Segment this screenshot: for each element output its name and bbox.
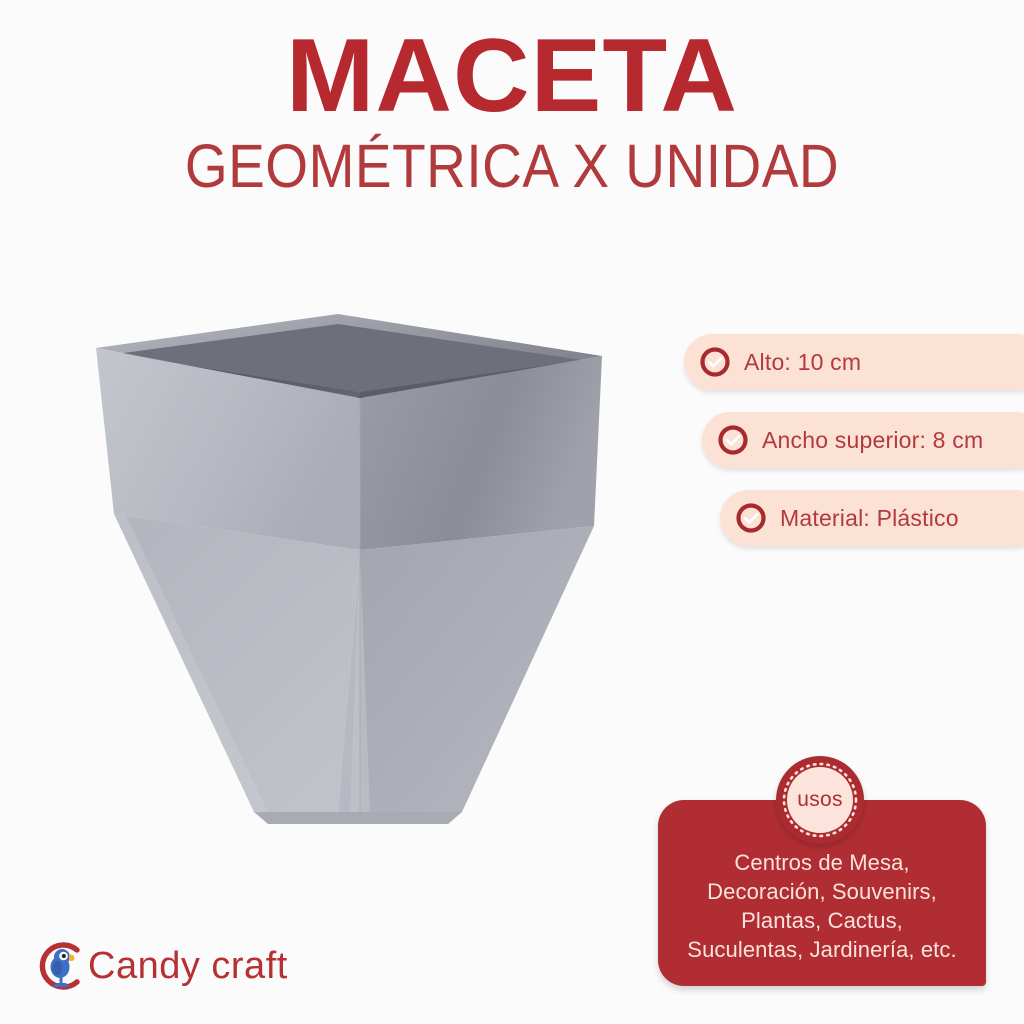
page-title: MACETA	[0, 24, 1024, 128]
usos-line: Decoración, Souvenirs,	[658, 877, 986, 906]
page-subtitle: GEOMÉTRICA X UNIDAD	[0, 135, 1024, 200]
check-circle-icon	[700, 347, 730, 377]
check-circle-icon	[718, 425, 748, 455]
feature-badge-list: Alto: 10 cm Ancho superior: 8 cm Materia…	[0, 334, 1024, 564]
feature-badge-material[interactable]: Material: Plástico	[720, 490, 1024, 546]
parrot-in-c-icon	[30, 935, 92, 997]
feature-badge-alto[interactable]: Alto: 10 cm	[684, 334, 1024, 390]
check-circle-icon	[736, 503, 766, 533]
brand-logo[interactable]: Candy craft	[30, 930, 290, 1002]
feature-badge-label: Ancho superior: 8 cm	[762, 427, 983, 454]
brand-name: Candy craft	[88, 945, 288, 988]
usos-line: Centros de Mesa,	[658, 848, 986, 877]
usos-seal-label: usos	[797, 788, 843, 812]
usos-line: Suculentas, Jardinería, etc.	[658, 935, 986, 964]
usos-text: Centros de Mesa, Decoración, Souvenirs, …	[658, 848, 986, 964]
header-title-block: MACETA GEOMÉTRICA X UNIDAD	[0, 24, 1024, 196]
feature-badge-ancho[interactable]: Ancho superior: 8 cm	[702, 412, 1024, 468]
feature-badge-label: Alto: 10 cm	[744, 349, 861, 376]
feature-badge-label: Material: Plástico	[780, 505, 959, 532]
usos-line: Plantas, Cactus,	[658, 906, 986, 935]
product-infographic: MACETA GEOMÉTRICA X UNIDAD	[0, 0, 1024, 1024]
usos-seal-badge: usos	[776, 756, 864, 844]
